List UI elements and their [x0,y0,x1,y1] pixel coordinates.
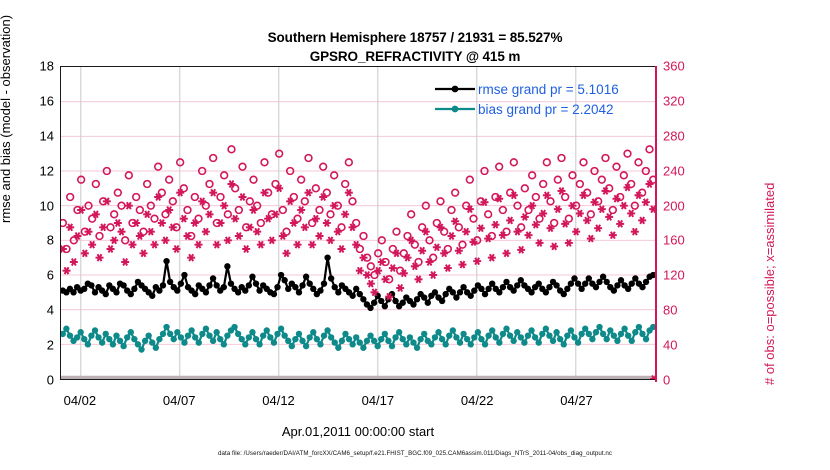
y-right-tick-240: 240 [663,164,685,177]
y-right-tick-200: 200 [663,199,685,212]
y-right-tick-360: 360 [663,60,685,73]
y-right-tick-40: 40 [663,339,677,352]
y-axis-right-spine [655,66,657,382]
x-tick-04/17: 04/17 [362,394,395,407]
chart-title-block: Southern Hemisphere 18757 / 21931 = 85.5… [0,28,830,66]
y-left-tick-10: 10 [14,199,54,212]
y-axis-left-label: rmse and bias (model - observation) [0,15,13,223]
legend-marker-bias-icon [434,102,476,116]
y-left-tick-12: 12 [14,164,54,177]
y-left-tick-14: 14 [14,129,54,142]
y-left-tick-2: 2 [14,339,54,352]
x-axis-label: Apr.01,2011 00:00:00 start [60,424,656,439]
y-right-tick-320: 320 [663,94,685,107]
x-tick-04/07: 04/07 [163,394,196,407]
chart-title-line-1: Southern Hemisphere 18757 / 21931 = 85.5… [0,28,830,47]
legend-item-rmse[interactable]: rmse grand pr = 5.1016 [434,79,619,99]
y-left-tick-8: 8 [14,234,54,247]
y-right-tick-80: 80 [663,304,677,317]
y-right-tick-280: 280 [663,129,685,142]
x-tick-04/27: 04/27 [560,394,593,407]
y-axis-right-label: # of obs: o=possible; x=assimilated [762,183,777,385]
legend-label-bias: bias grand pr = 2.2042 [478,102,613,117]
y-left-tick-16: 16 [14,94,54,107]
legend-marker-rmse-icon [434,82,476,96]
x-tick-04/02: 04/02 [64,394,97,407]
x-tick-04/22: 04/22 [461,394,494,407]
y-left-tick-6: 6 [14,269,54,282]
legend-item-bias[interactable]: bias grand pr = 2.2042 [434,99,619,119]
legend-label-rmse: rmse grand pr = 5.1016 [478,82,619,97]
y-right-tick-0: 0 [663,374,670,387]
y-left-tick-0: 0 [14,374,54,387]
y-left-tick-4: 4 [14,304,54,317]
y-right-tick-120: 120 [663,269,685,282]
y-right-tick-160: 160 [663,234,685,247]
chart-page: Southern Hemisphere 18757 / 21931 = 85.5… [0,0,830,470]
chart-legend: rmse grand pr = 5.1016 bias grand pr = 2… [434,79,619,119]
x-tick-04/12: 04/12 [262,394,295,407]
data-file-path: data file: /Users/raeder/DAI/ATM_forcXX/… [0,450,830,457]
y-left-tick-18: 18 [14,60,54,73]
chart-title-line-2: GPSRO_REFRACTIVITY @ 415 m [0,47,830,66]
